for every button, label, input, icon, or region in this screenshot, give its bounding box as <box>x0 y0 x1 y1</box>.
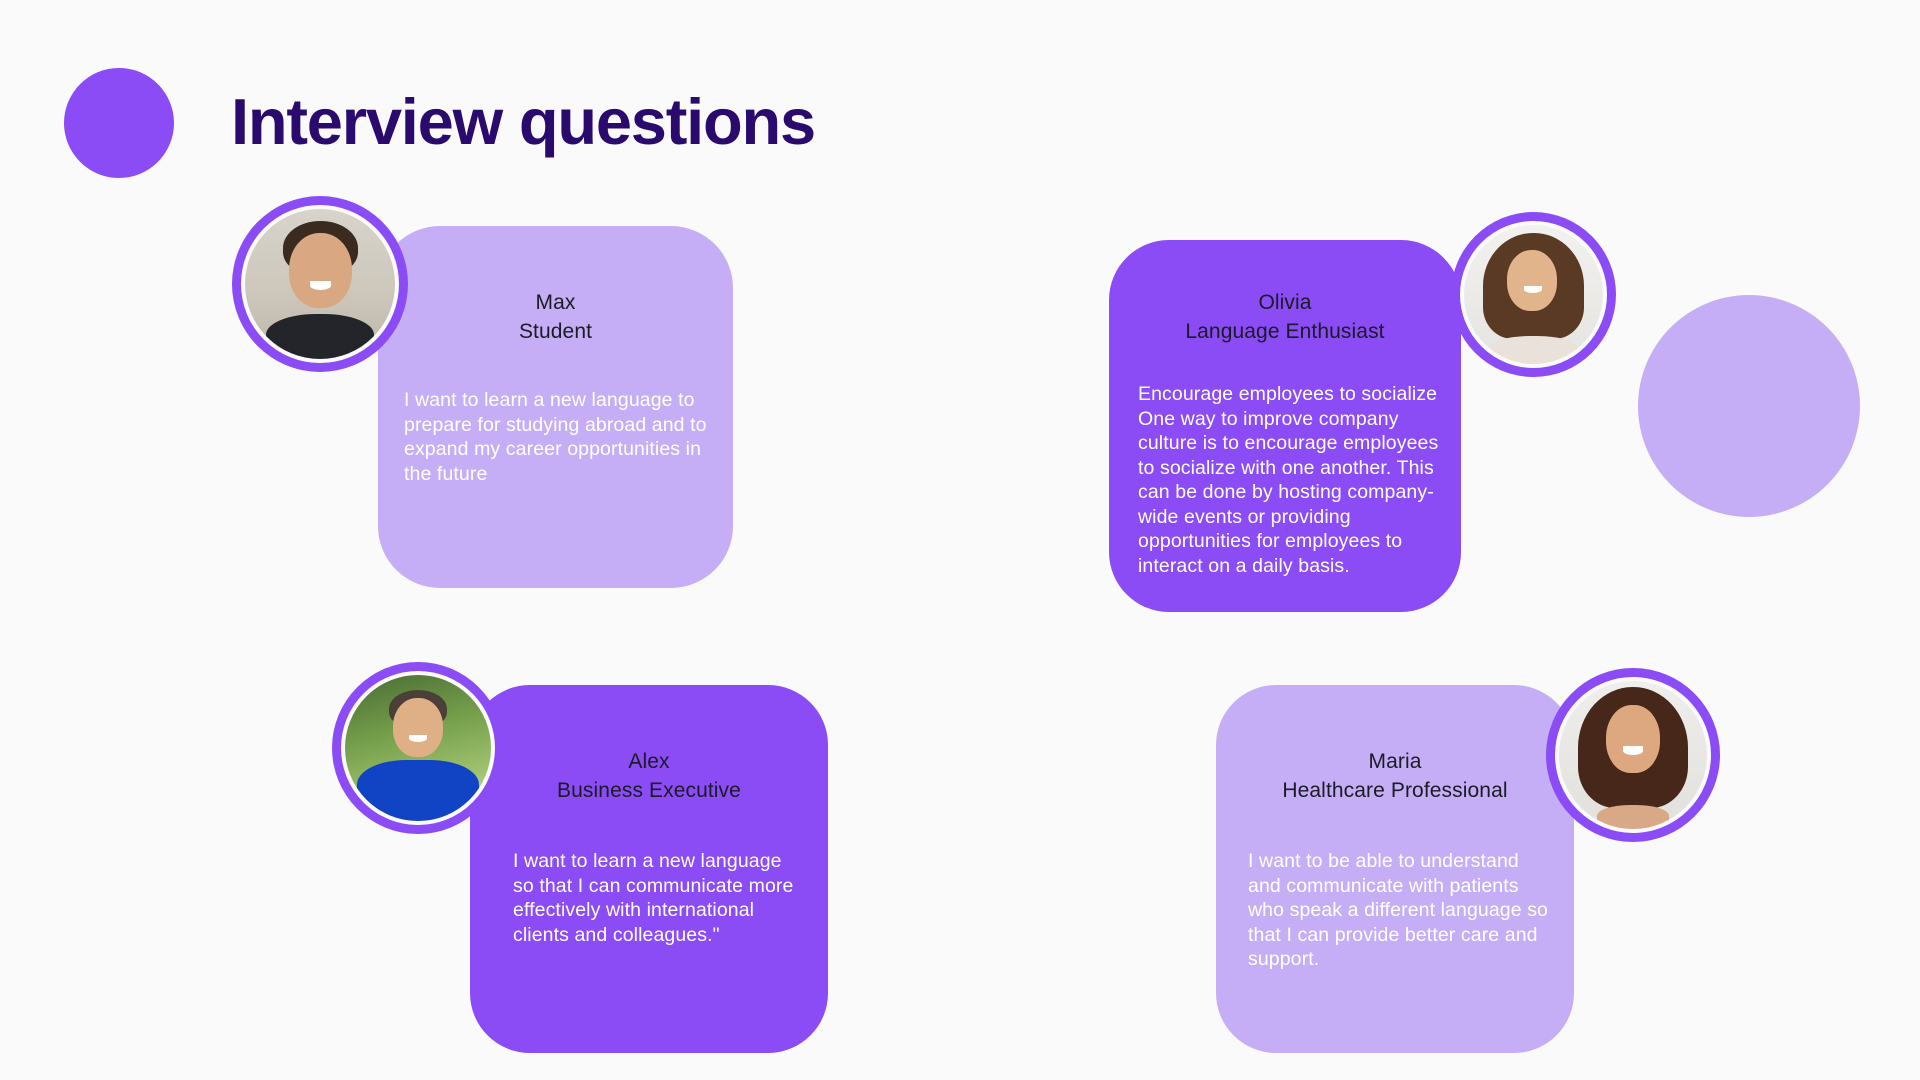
person-role-olivia: Language Enthusiast <box>1109 317 1461 346</box>
avatar-max <box>232 196 408 372</box>
slide-canvas: Interview questions Max Student I want t… <box>0 0 1920 1080</box>
person-name-max: Max <box>536 291 576 314</box>
person-quote-olivia: Encourage employees to socialize One way… <box>1138 382 1450 578</box>
person-name-olivia: Olivia <box>1258 291 1311 314</box>
person-quote-max: I want to learn a new language to prepar… <box>404 388 716 486</box>
avatar-olivia <box>1451 212 1616 377</box>
avatar-maria <box>1546 668 1720 842</box>
card-heading-maria: Maria Healthcare Professional <box>1216 747 1574 805</box>
avatar-image-maria <box>1555 677 1711 833</box>
avatar-image-olivia <box>1460 221 1607 368</box>
portrait-illustration-maria <box>1559 681 1707 829</box>
testimonial-card-maria: Maria Healthcare Professional I want to … <box>1216 685 1574 1053</box>
person-quote-alex: I want to learn a new language so that I… <box>513 849 803 947</box>
card-heading-max: Max Student <box>378 288 733 346</box>
avatar-image-max <box>241 205 399 363</box>
person-name-maria: Maria <box>1368 750 1421 773</box>
portrait-illustration-olivia <box>1464 225 1603 364</box>
decorative-circle-top-left <box>64 68 174 178</box>
decorative-circle-right <box>1638 295 1860 517</box>
card-heading-olivia: Olivia Language Enthusiast <box>1109 288 1461 346</box>
card-heading-alex: Alex Business Executive <box>470 747 828 805</box>
person-name-alex: Alex <box>628 750 669 773</box>
testimonial-card-max: Max Student I want to learn a new langua… <box>378 226 733 588</box>
testimonial-card-olivia: Olivia Language Enthusiast Encourage emp… <box>1109 240 1461 612</box>
person-role-alex: Business Executive <box>470 776 828 805</box>
portrait-illustration-alex <box>345 675 491 821</box>
person-role-max: Student <box>378 317 733 346</box>
testimonial-card-alex: Alex Business Executive I want to learn … <box>470 685 828 1053</box>
person-quote-maria: I want to be able to understand and comm… <box>1248 849 1548 972</box>
person-role-maria: Healthcare Professional <box>1216 776 1574 805</box>
page-title: Interview questions <box>231 84 815 159</box>
avatar-alex <box>332 662 504 834</box>
avatar-image-alex <box>341 671 495 825</box>
portrait-illustration-max <box>245 209 395 359</box>
